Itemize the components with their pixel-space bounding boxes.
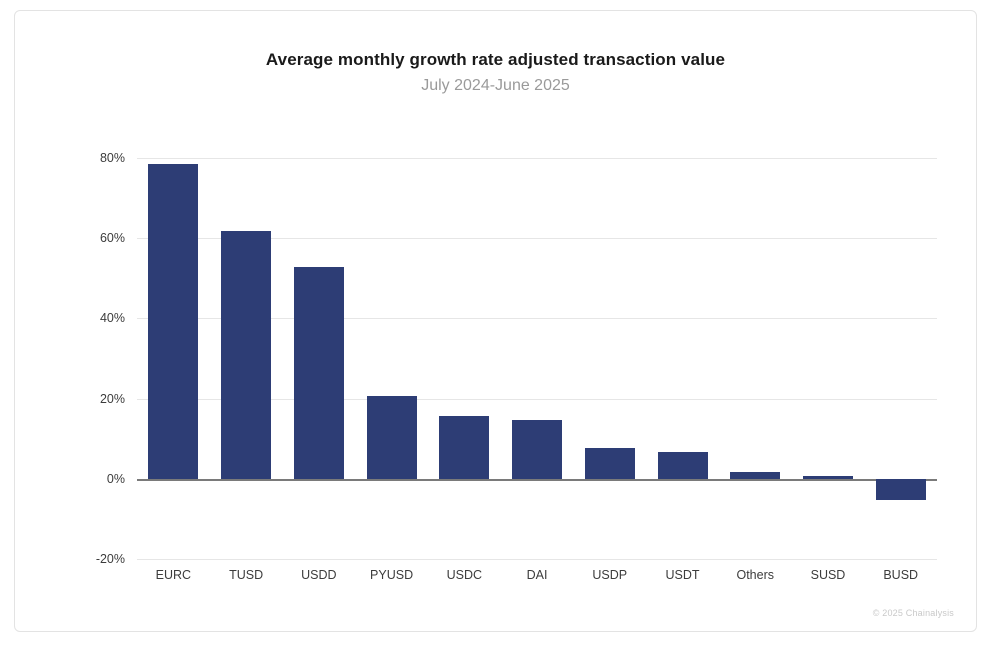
attribution-footer: © 2025 Chainalysis [873,608,954,618]
bar-usdd[interactable] [294,267,344,479]
y-axis-tick-label: 80% [100,151,125,165]
x-axis-tick-label: EURC [156,568,191,582]
x-axis-tick-label: USDD [301,568,336,582]
x-axis-tick-label: USDC [447,568,482,582]
bar-group: USDP [573,158,646,559]
bar-others[interactable] [730,472,780,478]
y-axis-tick-label: 40% [100,311,125,325]
bar-tusd[interactable] [221,231,271,478]
bar-group: USDT [646,158,719,559]
x-axis-tick-label: SUSD [811,568,846,582]
x-axis-tick-label: Others [736,568,774,582]
bar-pyusd[interactable] [367,396,417,479]
bar-group: EURC [137,158,210,559]
bar-group: USDD [282,158,355,559]
bar-usdc[interactable] [439,416,489,479]
bar-series: EURCTUSDUSDDPYUSDUSDCDAIUSDPUSDTOthersSU… [137,158,937,559]
y-axis-tick-label: 0% [107,472,125,486]
x-axis-tick-label: TUSD [229,568,263,582]
bar-dai[interactable] [512,420,562,479]
x-axis-tick-label: PYUSD [370,568,413,582]
x-axis-tick-label: USDP [592,568,627,582]
page-title: Average monthly growth rate adjusted tra… [15,49,976,71]
bar-group: PYUSD [355,158,428,559]
bar-group: USDC [428,158,501,559]
bar-group: BUSD [864,158,937,559]
bar-eurc[interactable] [148,164,198,479]
bar-susd[interactable] [803,476,853,479]
chart-card: Average monthly growth rate adjusted tra… [14,10,977,632]
y-axis-tick-label: 60% [100,231,125,245]
x-axis-tick-label: DAI [527,568,548,582]
x-axis-tick-label: USDT [665,568,699,582]
bar-usdt[interactable] [658,452,708,479]
bar-group: DAI [501,158,574,559]
y-axis-tick-label: 20% [100,392,125,406]
y-axis-tick-label: -20% [96,552,125,566]
x-axis-tick-label: BUSD [883,568,918,582]
chart-subtitle: July 2024-June 2025 [15,75,976,97]
bar-usdp[interactable] [585,448,635,479]
bar-busd[interactable] [876,479,926,501]
bar-group: SUSD [792,158,865,559]
plot-area: 80%60%40%20%0%-20% EURCTUSDUSDDPYUSDUSDC… [137,158,937,559]
gridline: -20% [137,559,937,560]
chart-header: Average monthly growth rate adjusted tra… [15,49,976,97]
bar-group: TUSD [210,158,283,559]
bar-group: Others [719,158,792,559]
